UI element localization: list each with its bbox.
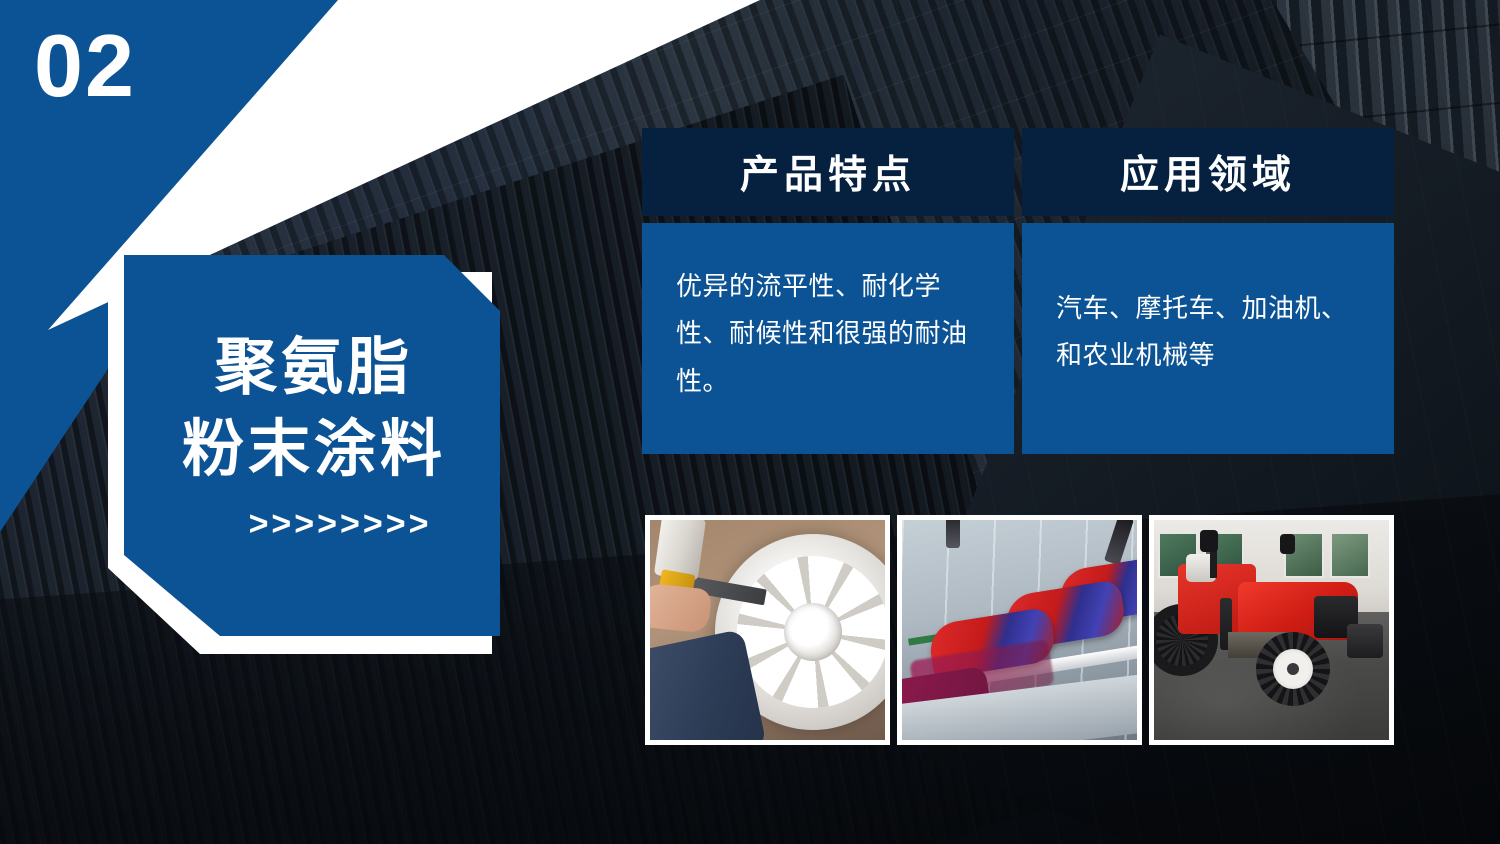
info-card-group: 产品特点 优异的流平性、耐化学性、耐候性和很强的耐油性。 应用领域 汽车、摩托车… <box>642 128 1394 454</box>
title-line-2: 粉末涂料 <box>124 409 500 491</box>
title-line-1: 聚氨脂 <box>124 327 500 409</box>
card-body-text: 汽车、摩托车、加油机、和农业机械等 <box>1056 285 1360 380</box>
card-header-label: 产品特点 <box>740 144 916 200</box>
photo-strip <box>645 515 1394 745</box>
photo-image <box>902 520 1137 740</box>
presentation-slide: 02 聚氨脂 粉末涂料 >>>>>>>> 产品特点 优异的流平性、耐化学性、耐候… <box>0 0 1500 844</box>
card-body-product-features: 优异的流平性、耐化学性、耐候性和很强的耐油性。 <box>642 223 1014 454</box>
card-header-label: 应用领域 <box>1120 144 1296 200</box>
title-card: 聚氨脂 粉末涂料 >>>>>>>> <box>124 255 500 636</box>
photo-tank-line <box>897 515 1142 745</box>
operator-hand <box>650 582 712 633</box>
card-header-application-fields: 应用领域 <box>1022 128 1394 216</box>
photo-wheel-coating <box>645 515 890 745</box>
section-number: 02 <box>34 22 136 110</box>
building-window <box>1330 532 1370 578</box>
card-body-text: 优异的流平性、耐化学性、耐候性和很强的耐油性。 <box>676 263 980 405</box>
chevron-arrows-icon: >>>>>>>> <box>124 505 500 544</box>
card-body-application-fields: 汽车、摩托车、加油机、和农业机械等 <box>1022 223 1394 454</box>
tractor-front-wheel <box>1256 632 1330 706</box>
tractor-hitch <box>1347 624 1383 658</box>
booth-nozzle-left <box>946 520 960 548</box>
card-application-fields: 应用领域 汽车、摩托车、加油机、和农业机械等 <box>1022 128 1394 454</box>
photo-image <box>1154 520 1389 740</box>
card-product-features: 产品特点 优异的流平性、耐化学性、耐候性和很强的耐油性。 <box>642 128 1014 454</box>
tractor-mirror-right <box>1280 534 1295 554</box>
photo-tractor <box>1149 515 1394 745</box>
photo-image <box>650 520 885 740</box>
tractor-mirror-left <box>1200 530 1218 552</box>
card-header-product-features: 产品特点 <box>642 128 1014 216</box>
